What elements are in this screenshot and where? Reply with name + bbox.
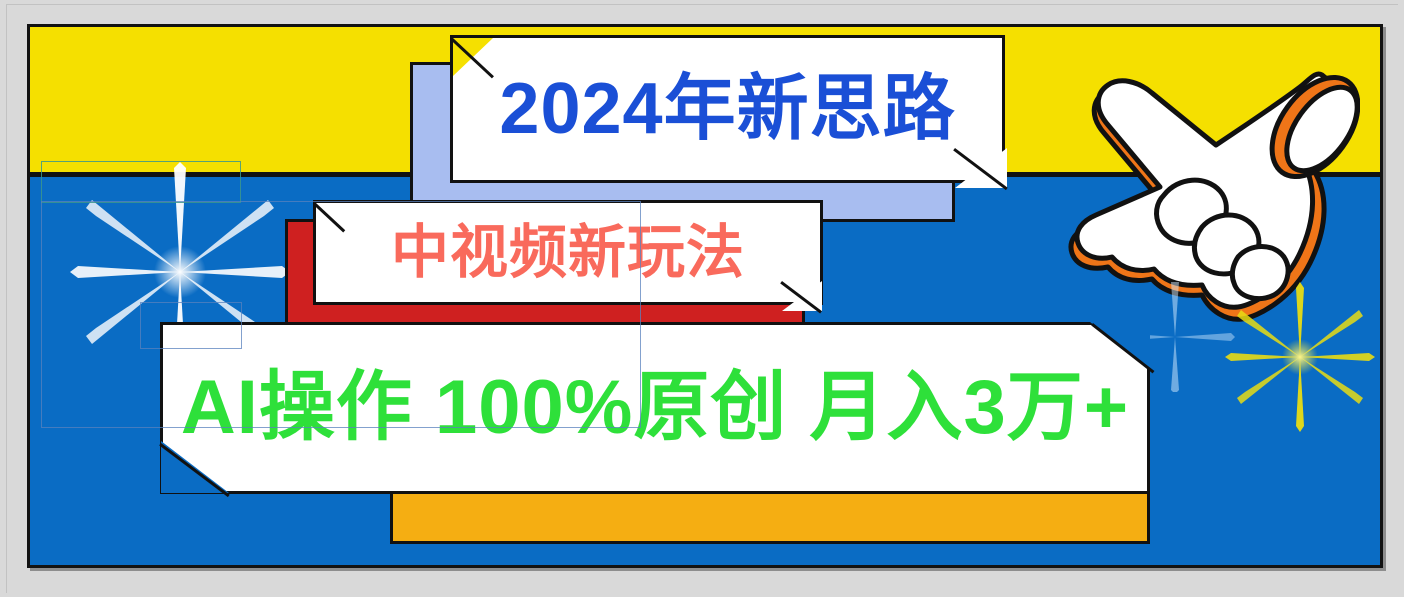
banner-3-fold-bottom-left [161,441,229,493]
poster-canvas: 2024年新思路 中视频新玩法 [30,27,1380,565]
image-viewer-frame: 2024年新思路 中视频新玩法 [0,0,1404,597]
poster-image[interactable]: 2024年新思路 中视频新玩法 [27,24,1383,568]
banner-mid-video-new-play[interactable]: 中视频新玩法 [285,197,845,342]
banner-1-label: 2024年新思路 [499,73,955,145]
banner-3-card[interactable]: AI操作 100%原创 月入3万+ [160,322,1150,494]
banner-ai-original-income[interactable]: AI操作 100%原创 月入3万+ [160,322,1165,562]
banner-2-label: 中视频新玩法 [391,224,745,282]
pointing-hand-icon [1060,67,1360,332]
banner-2-card[interactable]: 中视频新玩法 [313,200,823,305]
banner-1-card[interactable]: 2024年新思路 [450,35,1005,183]
banner-3-label: AI操作 100%原创 月入3万+ [181,370,1129,446]
